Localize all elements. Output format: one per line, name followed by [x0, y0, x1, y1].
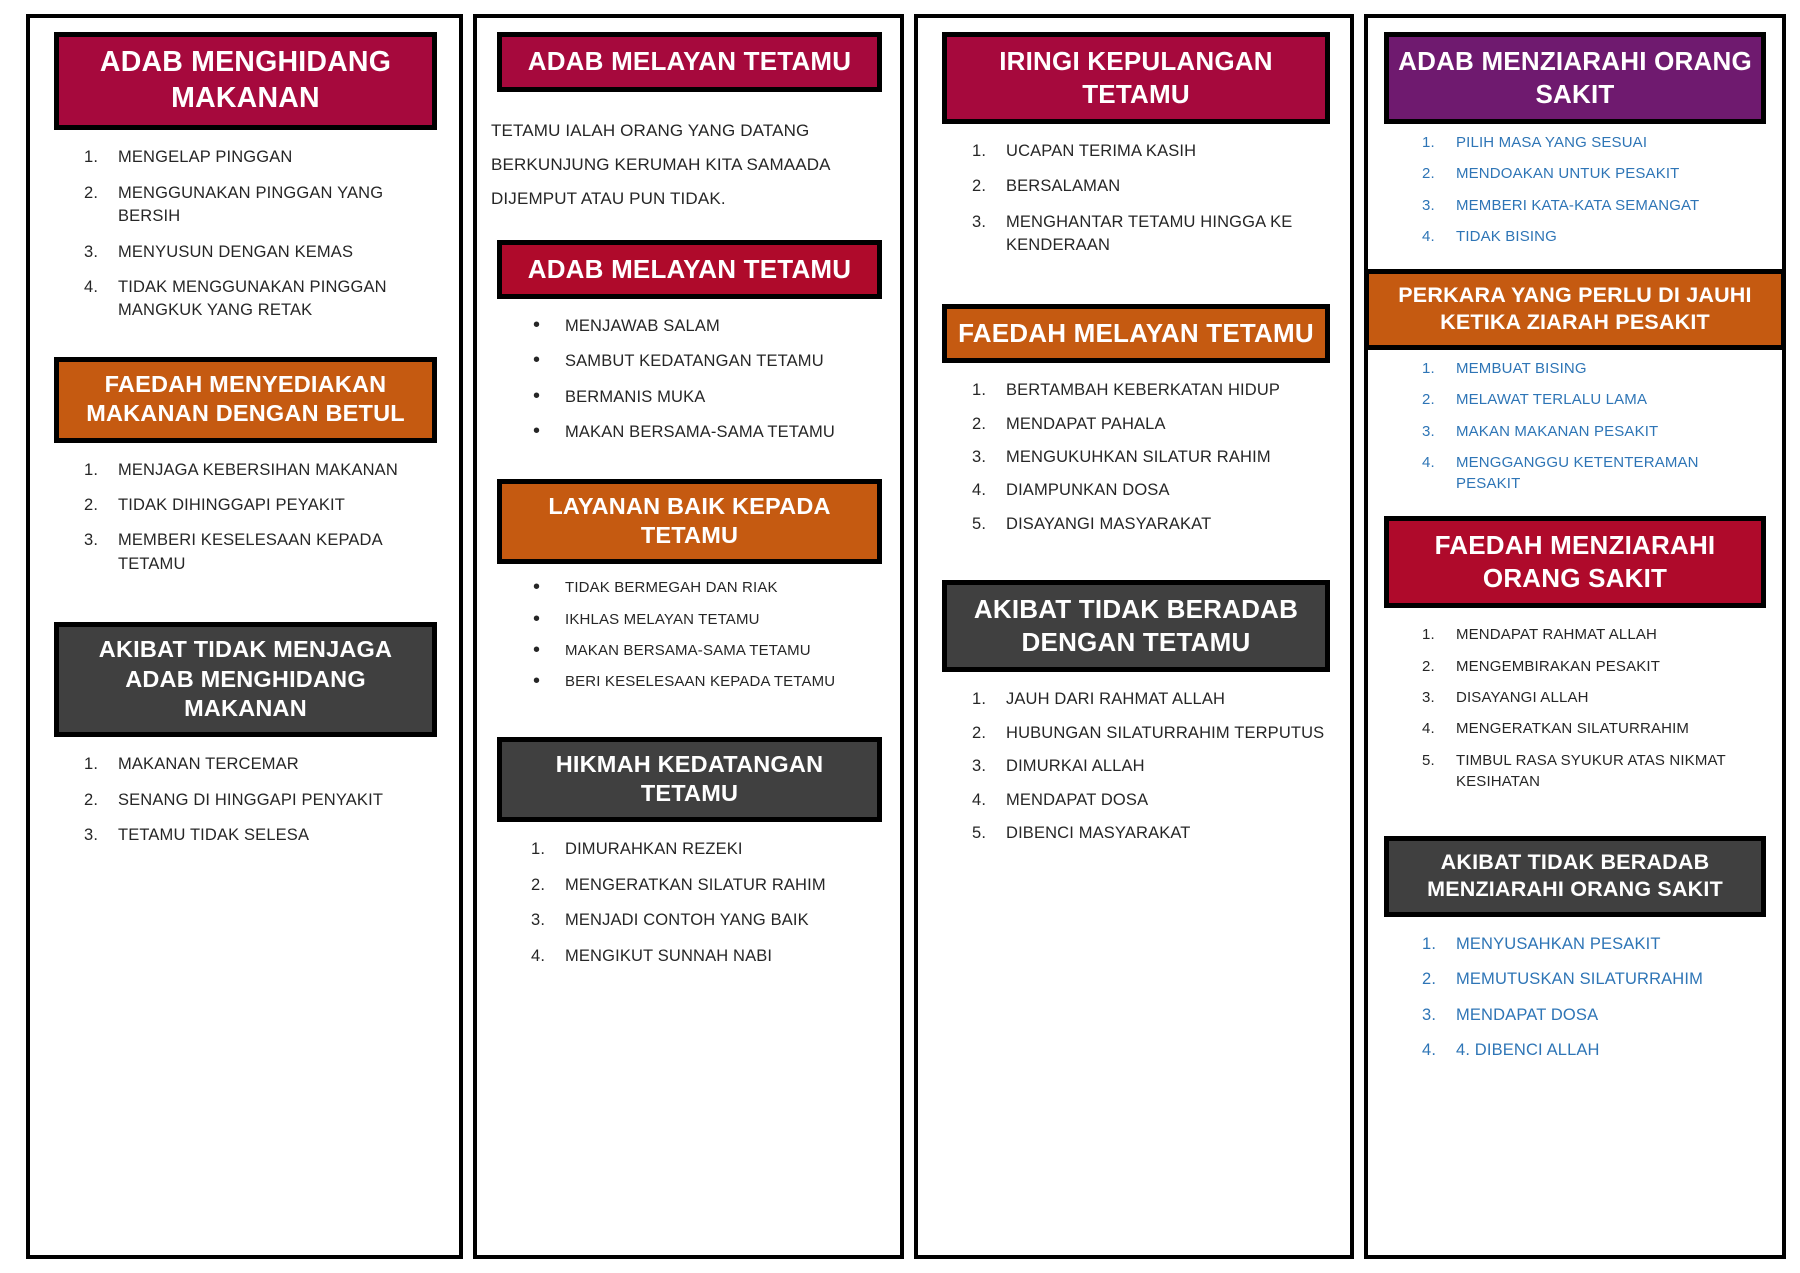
list-item: DIMURKAI ALLAH	[928, 755, 1334, 778]
list-item: MEMBERI KESELESAAN KEPADA TETAMU	[40, 529, 443, 576]
list-item: BERSALAMAN	[928, 175, 1334, 198]
list-item: MENDOAKAN UNTUK PESAKIT	[1378, 163, 1766, 184]
list-item: MENYUSUN DENGAN KEMAS	[40, 241, 443, 264]
list-adab-menghidang-makanan: MENGELAP PINGGAN MENGGUNAKAN PINGGAN YAN…	[40, 130, 449, 339]
list-item: DIBENCI MASYARAKAT	[928, 822, 1334, 845]
list-item: TIDAK MENGGUNAKAN PINGGAN MANGKUK YANG R…	[40, 276, 443, 323]
list-item: MENYUSAHKAN PESAKIT	[1378, 933, 1766, 956]
list-item: MAKANAN TERCEMAR	[40, 753, 443, 776]
list-item: DISAYANGI MASYARAKAT	[928, 513, 1334, 536]
heading-faedah-menyediakan-makanan: FAEDAH MENYEDIAKAN MAKANAN DENGAN BETUL	[54, 357, 437, 443]
list-adab-melayan-tetamu: MENJAWAB SALAM SAMBUT KEDATANGAN TETAMU …	[487, 299, 890, 461]
spacer	[40, 339, 449, 349]
list-item: MENDAPAT DOSA	[1378, 1004, 1766, 1027]
column-4-panel: ADAB MENZIARAHI ORANG SAKIT PILIH MASA Y…	[1364, 14, 1786, 1259]
list-item: TIMBUL RASA SYUKUR ATAS NIKMAT KESIHATAN	[1378, 750, 1766, 793]
spacer	[487, 222, 890, 232]
spacer	[487, 707, 890, 729]
list-item: MAKAN BERSAMA-SAMA TETAMU	[487, 421, 884, 444]
list-item: SENANG DI HINGGAPI PENYAKIT	[40, 789, 443, 812]
list-item: MENJAWAB SALAM	[487, 315, 884, 338]
list-item: JAUH DARI RAHMAT ALLAH	[928, 688, 1334, 711]
list-item: MAKAN MAKANAN PESAKIT	[1378, 421, 1766, 442]
list-item: DISAYANGI ALLAH	[1378, 687, 1766, 708]
heading-hikmah-kedatangan-tetamu: HIKMAH KEDATANGAN TETAMU	[497, 737, 882, 823]
list-akibat-tidak-beradab-dengan-tetamu: JAUH DARI RAHMAT ALLAH HUBUNGAN SILATURR…	[928, 672, 1340, 859]
list-item: MENGELAP PINGGAN	[40, 146, 443, 169]
list-layanan-baik-kepada-tetamu: TIDAK BERMEGAH DAN RIAK IKHLAS MELAYAN T…	[487, 564, 890, 706]
list-item: BERMANIS MUKA	[487, 386, 884, 409]
list-faedah-menyediakan-makanan: MENJAGA KEBERSIHAN MAKANAN TIDAK DIHINGG…	[40, 443, 449, 593]
list-item: UCAPAN TERIMA KASIH	[928, 140, 1334, 163]
list-faedah-menziarahi-orang-sakit: MENDAPAT RAHMAT ALLAH MENGEMBIRAKAN PESA…	[1378, 608, 1772, 806]
list-item: MENGERATKAN SILATURRAHIM	[1378, 718, 1766, 739]
list-adab-menziarahi-orang-sakit: PILIH MASA YANG SESUAI MENDOAKAN UNTUK P…	[1378, 124, 1772, 261]
list-akibat-tidak-beradab-menziarahi: MENYUSAHKAN PESAKIT MEMUTUSKAN SILATURRA…	[1378, 917, 1772, 1079]
list-item: BERI KESELESAAN KEPADA TETAMU	[487, 671, 884, 692]
list-item: IKHLAS MELAYAN TETAMU	[487, 609, 884, 630]
list-item: MEMUTUSKAN SILATURRAHIM	[1378, 968, 1766, 991]
list-item: MEMBUAT BISING	[1378, 358, 1766, 379]
list-item: TETAMU TIDAK SELESA	[40, 824, 443, 847]
list-item: MENGEMBIRAKAN PESAKIT	[1378, 656, 1766, 677]
column-2-panel: ADAB MELAYAN TETAMU TETAMU IALAH ORANG Y…	[473, 14, 904, 1259]
list-item: PILIH MASA YANG SESUAI	[1378, 132, 1766, 153]
heading-akibat-tidak-menjaga-adab: AKIBAT TIDAK MENJAGA ADAB MENGHIDANG MAK…	[54, 622, 437, 737]
list-item: MAKAN BERSAMA-SAMA TETAMU	[487, 640, 884, 661]
list-item: DIMURAHKAN REZEKI	[487, 838, 884, 861]
heading-perkara-yang-perlu-di-jauhi: PERKARA YANG PERLU DI JAUHI KETIKA ZIARA…	[1364, 269, 1786, 350]
list-item: TIDAK DIHINGGAPI PEYAKIT	[40, 494, 443, 517]
list-item: MENGHANTAR TETAMU HINGGA KE KENDERAAN	[928, 211, 1334, 258]
list-item: MENDAPAT DOSA	[928, 789, 1334, 812]
list-item: MEMBERI KATA-KATA SEMANGAT	[1378, 195, 1766, 216]
list-akibat-tidak-menjaga-adab: MAKANAN TERCEMAR SENANG DI HINGGAPI PENY…	[40, 737, 449, 863]
heading-adab-menghidang-makanan: ADAB MENGHIDANG MAKANAN	[54, 32, 437, 130]
list-item: TIDAK BERMEGAH DAN RIAK	[487, 577, 884, 598]
heading-akibat-tidak-beradab-dengan-tetamu: AKIBAT TIDAK BERADAB DENGAN TETAMU	[942, 580, 1330, 672]
list-item: SAMBUT KEDATANGAN TETAMU	[487, 350, 884, 373]
brochure-page: ADAB MENGHIDANG MAKANAN MENGELAP PINGGAN…	[0, 0, 1800, 1273]
heading-adab-melayan-tetamu-intro: ADAB MELAYAN TETAMU	[497, 32, 882, 92]
paragraph-definisi-tetamu: TETAMU IALAH ORANG YANG DATANG BERKUNJUN…	[487, 92, 890, 222]
list-iringi-kepulangan-tetamu: UCAPAN TERIMA KASIH BERSALAMAN MENGHANTA…	[928, 124, 1340, 274]
list-item: BERTAMBAH KEBERKATAN HIDUP	[928, 379, 1334, 402]
list-item: TIDAK BISING	[1378, 226, 1766, 247]
list-item: 4. DIBENCI ALLAH	[1378, 1039, 1766, 1062]
heading-iringi-kepulangan-tetamu: IRINGI KEPULANGAN TETAMU	[942, 32, 1330, 124]
list-item: MENGGANGGU KETENTERAMAN PESAKIT	[1378, 452, 1766, 495]
list-faedah-melayan-tetamu: BERTAMBAH KEBERKATAN HIDUP MENDAPAT PAHA…	[928, 363, 1340, 550]
spacer	[928, 274, 1340, 296]
heading-adab-melayan-tetamu: ADAB MELAYAN TETAMU	[497, 240, 882, 300]
list-item: DIAMPUNKAN DOSA	[928, 479, 1334, 502]
heading-layanan-baik-kepada-tetamu: LAYANAN BAIK KEPADA TETAMU	[497, 479, 882, 565]
spacer	[487, 461, 890, 471]
list-item: HUBUNGAN SILATURRAHIM TERPUTUS	[928, 722, 1334, 745]
list-item: MELAWAT TERLALU LAMA	[1378, 389, 1766, 410]
column-1-panel: ADAB MENGHIDANG MAKANAN MENGELAP PINGGAN…	[26, 14, 463, 1259]
list-item: MENJAGA KEBERSIHAN MAKANAN	[40, 459, 443, 482]
list-item: MENGERATKAN SILATUR RAHIM	[487, 874, 884, 897]
spacer	[928, 550, 1340, 572]
heading-adab-menziarahi-orang-sakit: ADAB MENZIARAHI ORANG SAKIT	[1384, 32, 1766, 124]
list-item: MENJADI CONTOH YANG BAIK	[487, 909, 884, 932]
list-item: MENDAPAT PAHALA	[928, 413, 1334, 436]
list-perkara-yang-perlu-di-jauhi: MEMBUAT BISING MELAWAT TERLALU LAMA MAKA…	[1378, 350, 1772, 508]
list-item: MENGIKUT SUNNAH NABI	[487, 945, 884, 968]
list-item: MENGUKUHKAN SILATUR RAHIM	[928, 446, 1334, 469]
heading-akibat-tidak-beradab-menziarahi: AKIBAT TIDAK BERADAB MENZIARAHI ORANG SA…	[1384, 836, 1766, 917]
list-hikmah-kedatangan-tetamu: DIMURAHKAN REZEKI MENGERATKAN SILATUR RA…	[487, 822, 890, 984]
spacer	[40, 592, 449, 614]
list-item: MENDAPAT RAHMAT ALLAH	[1378, 624, 1766, 645]
list-item: MENGGUNAKAN PINGGAN YANG BERSIH	[40, 182, 443, 229]
spacer	[1378, 806, 1772, 828]
heading-faedah-menziarahi-orang-sakit: FAEDAH MENZIARAHI ORANG SAKIT	[1384, 516, 1766, 608]
heading-faedah-melayan-tetamu: FAEDAH MELAYAN TETAMU	[942, 304, 1330, 364]
column-3-panel: IRINGI KEPULANGAN TETAMU UCAPAN TERIMA K…	[914, 14, 1354, 1259]
